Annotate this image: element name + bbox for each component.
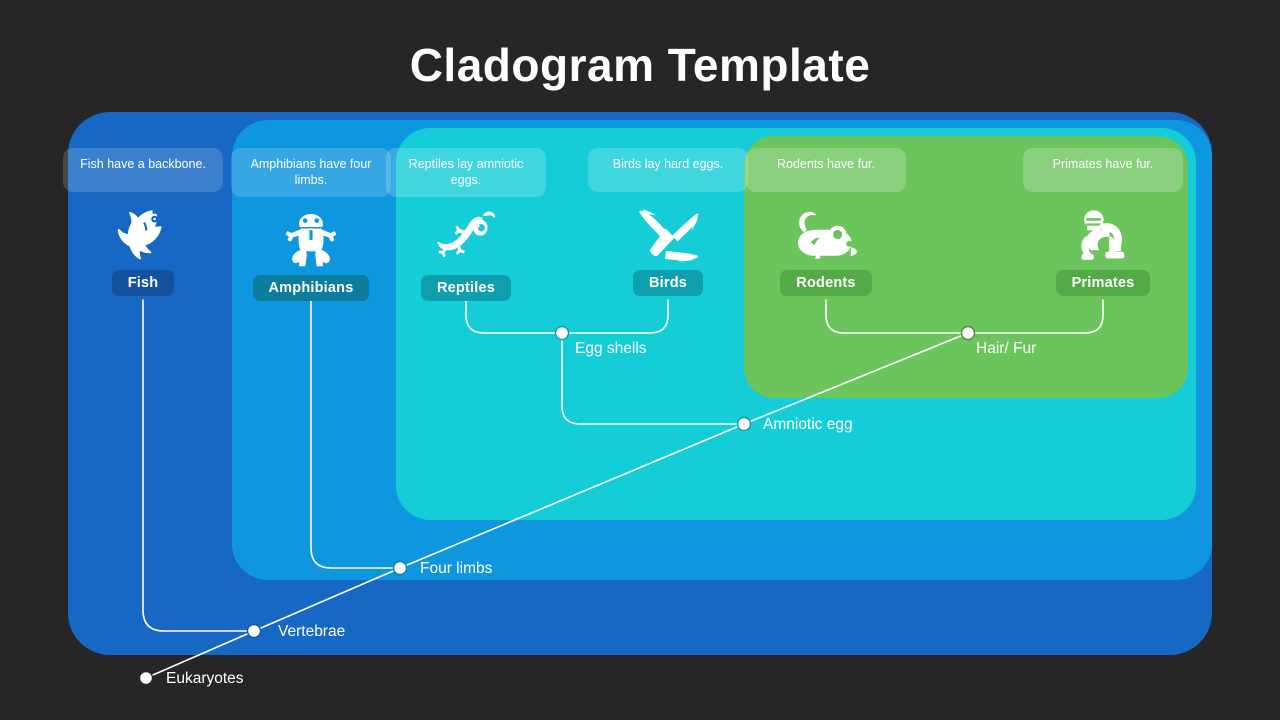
taxon-badge-fish: Fish (112, 270, 175, 296)
statement-reptiles: Reptiles lay amniotic eggs. (386, 148, 546, 197)
node-label-eukaryotes: Eukaryotes (166, 670, 244, 688)
node-label-four-limbs: Four limbs (420, 560, 492, 578)
statement-primates: Primates have fur. (1023, 148, 1183, 192)
frog-icon (231, 209, 391, 271)
statement-rodents: Rodents have fur. (746, 148, 906, 192)
taxon-column-amphibians[interactable]: Amphibians have four limbs. Amphibians (231, 148, 391, 301)
taxon-column-fish[interactable]: Fish have a backbone. Fish (63, 148, 223, 296)
statement-birds: Birds lay hard eggs. (588, 148, 748, 192)
branch-rodents (826, 300, 968, 333)
node-label-vertebrae: Vertebrae (278, 623, 345, 641)
taxon-badge-amphibians: Amphibians (253, 275, 370, 301)
branch-reptiles (466, 300, 562, 333)
lizard-icon (386, 209, 546, 271)
node-label-amniotic-egg: Amniotic egg (763, 416, 853, 434)
node-label-egg-shells: Egg shells (575, 340, 647, 358)
taxon-column-reptiles[interactable]: Reptiles lay amniotic eggs. Reptiles (386, 148, 546, 301)
bird-icon (588, 204, 748, 266)
branch-fish (143, 300, 254, 631)
statement-amphibians: Amphibians have four limbs. (231, 148, 391, 197)
fish-icon (63, 204, 223, 266)
backbone-line (146, 333, 968, 678)
statement-fish: Fish have a backbone. (63, 148, 223, 192)
branch-amphibians (311, 300, 400, 568)
taxon-badge-rodents: Rodents (780, 270, 871, 296)
node-dot-amniotic-egg[interactable] (738, 418, 751, 431)
taxon-column-birds[interactable]: Birds lay hard eggs. Birds (588, 148, 748, 296)
node-label-hair-fur: Hair/ Fur (976, 340, 1036, 358)
node-dots (140, 327, 975, 685)
taxon-column-rodents[interactable]: Rodents have fur. Rodents (746, 148, 906, 296)
branch-primates (968, 300, 1103, 333)
node-dot-four-limbs[interactable] (394, 562, 407, 575)
taxon-badge-reptiles: Reptiles (421, 275, 511, 301)
cladogram-slide: Cladogram Template (0, 0, 1280, 720)
mouse-icon (746, 204, 906, 266)
taxon-badge-birds: Birds (633, 270, 703, 296)
taxon-badge-primates: Primates (1056, 270, 1151, 296)
node-dot-egg-shells[interactable] (556, 327, 569, 340)
branch-birds (562, 300, 668, 333)
taxon-column-primates[interactable]: Primates have fur. Primates (1023, 148, 1183, 296)
gorilla-icon (1023, 204, 1183, 266)
node-dot-vertebrae[interactable] (248, 625, 261, 638)
node-dot-hair-fur[interactable] (962, 327, 975, 340)
cladogram-branches (0, 0, 1280, 720)
node-dot-eukaryotes[interactable] (140, 672, 153, 685)
